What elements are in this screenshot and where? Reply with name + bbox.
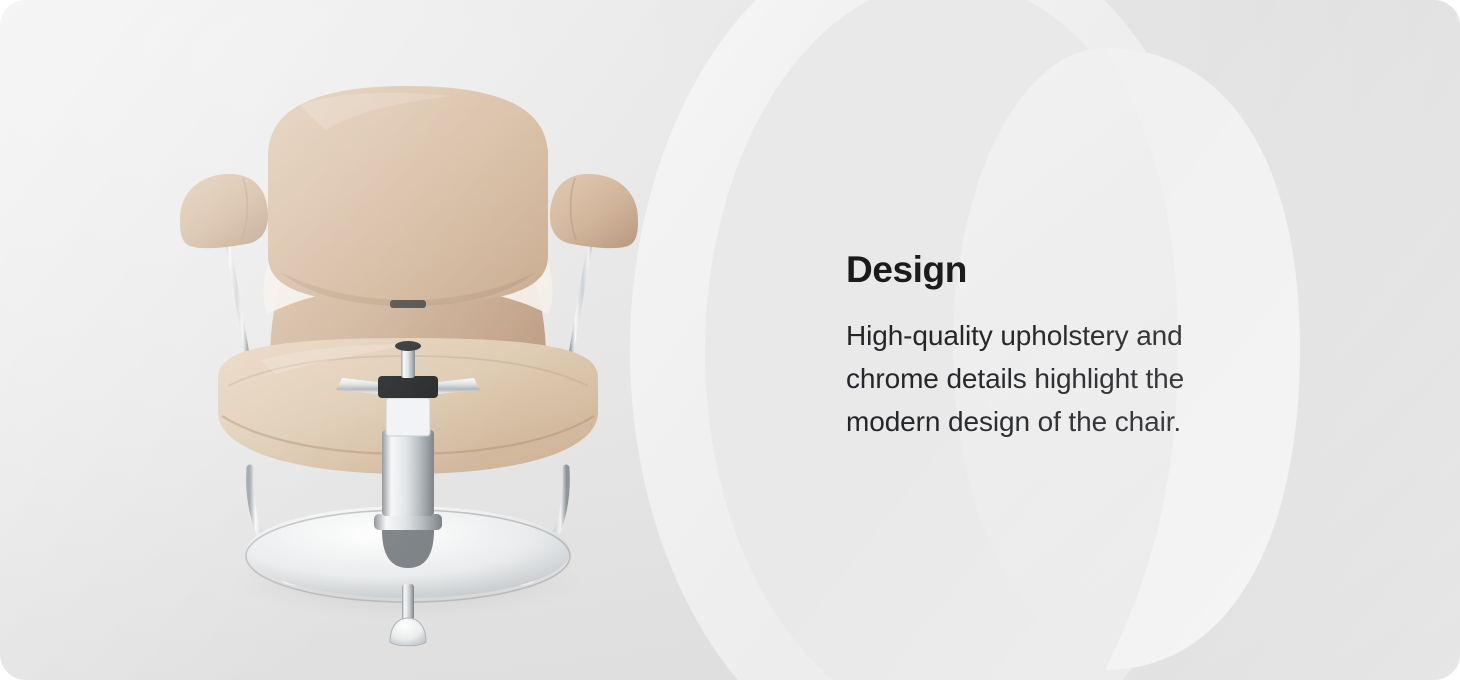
footrest-left-rail — [250, 468, 276, 564]
backrest-sheen — [300, 93, 450, 130]
footrest-cross-bar — [276, 564, 540, 582]
gas-stem — [401, 346, 415, 378]
chair-base-disc — [246, 506, 570, 598]
chair-floor-shadow — [233, 540, 583, 620]
chair-base-disc-edge — [246, 510, 570, 602]
gas-stem-cap — [395, 341, 421, 351]
page-title: Design — [846, 248, 1276, 292]
description-line-2: chrome details highlight the — [846, 357, 1276, 400]
backrest-bottom-shadow — [280, 272, 536, 306]
chair-backrest — [268, 86, 548, 304]
foot-pedal-stem — [402, 584, 414, 620]
chair-seat-cushion — [218, 338, 598, 474]
backrest-tilt-hardware — [390, 300, 426, 308]
backrest-piping — [264, 228, 553, 314]
right-armrest-pad — [550, 174, 638, 248]
description-line-3: modern design of the chair. — [846, 400, 1276, 443]
product-feature-card: Design High-quality upholstery and chrom… — [0, 0, 1460, 680]
description-text: High-quality upholstery and chrome detai… — [846, 314, 1276, 443]
hydraulic-collar — [374, 514, 442, 530]
copy-block: Design High-quality upholstery and chrom… — [846, 248, 1276, 443]
left-armrest-post — [224, 220, 248, 360]
height-lever-right — [438, 378, 480, 394]
seat-highlight — [260, 344, 408, 374]
left-armrest-pad — [180, 174, 268, 248]
hydraulic-cylinder — [382, 430, 434, 516]
hydraulic-cylinder-sleeve — [386, 398, 430, 436]
foot-pedal-bell — [390, 618, 426, 646]
left-armrest-pad-seam — [242, 178, 247, 240]
right-armrest-pad-seam — [571, 178, 576, 240]
product-chair-image — [150, 60, 670, 680]
chair-shell — [270, 196, 546, 420]
right-armrest-post — [570, 220, 594, 360]
seat-top-seam — [228, 356, 588, 386]
description-line-1: High-quality upholstery and — [846, 314, 1276, 357]
footrest-right-rail — [540, 468, 566, 564]
hydraulic-cone — [382, 530, 434, 568]
height-lever-block — [378, 376, 438, 398]
height-lever-left — [336, 378, 378, 394]
seat-welt-seam — [222, 416, 594, 454]
